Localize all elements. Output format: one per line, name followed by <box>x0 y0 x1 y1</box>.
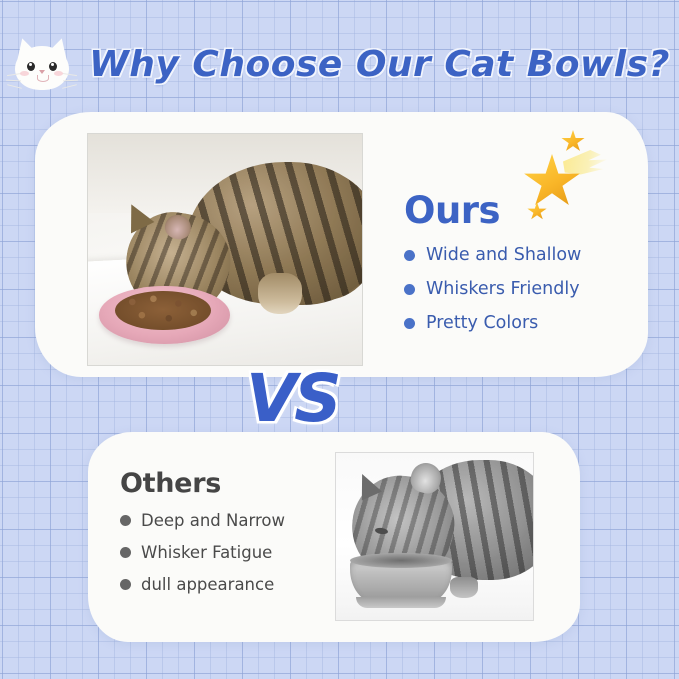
list-item: Pretty Colors <box>404 313 644 333</box>
list-item: Whiskers Friendly <box>404 279 644 299</box>
ours-content: Ours Wide and Shallow Whiskers Friendly … <box>404 192 644 347</box>
infographic-poster: Why Choose Our Cat Bowls? Ours Wide and … <box>0 0 679 679</box>
bullet-icon <box>120 579 131 590</box>
whisker <box>63 80 78 82</box>
bullet-icon <box>404 250 415 261</box>
bullet-icon <box>120 515 131 526</box>
page-title: Why Choose Our Cat Bowls? <box>89 44 670 85</box>
ours-photo <box>87 133 363 366</box>
vs-badge: VS <box>246 366 339 432</box>
list-item: Wide and Shallow <box>404 245 644 265</box>
whisker <box>6 80 21 82</box>
bullet-icon <box>404 284 415 295</box>
whisker <box>62 73 77 77</box>
cat-head <box>15 46 69 90</box>
ours-title: Ours <box>404 192 644 229</box>
cat-paw <box>450 577 478 599</box>
list-item-label: Wide and Shallow <box>426 245 581 265</box>
list-item: Deep and Narrow <box>120 511 335 530</box>
list-item-label: Pretty Colors <box>426 313 538 333</box>
list-item-label: dull appearance <box>141 575 274 594</box>
cat-mouth <box>37 75 49 82</box>
cat-face-icon <box>9 36 75 92</box>
list-item-label: Deep and Narrow <box>141 511 285 530</box>
whisker <box>7 84 22 89</box>
others-photo <box>335 452 534 621</box>
cat-leg <box>258 273 302 315</box>
others-content: Others Deep and Narrow Whisker Fatigue d… <box>120 470 335 607</box>
others-title: Others <box>120 470 335 497</box>
list-item: Whisker Fatigue <box>120 543 335 562</box>
list-item-label: Whisker Fatigue <box>141 543 272 562</box>
list-item-label: Whiskers Friendly <box>426 279 580 299</box>
star-small <box>561 130 585 153</box>
list-item: dull appearance <box>120 575 335 594</box>
bullet-icon <box>404 318 415 329</box>
header: Why Choose Our Cat Bowls? <box>0 28 679 100</box>
bowl-base <box>356 597 447 609</box>
bullet-icon <box>120 547 131 558</box>
cat-nose <box>39 70 45 74</box>
whisker <box>62 84 77 89</box>
